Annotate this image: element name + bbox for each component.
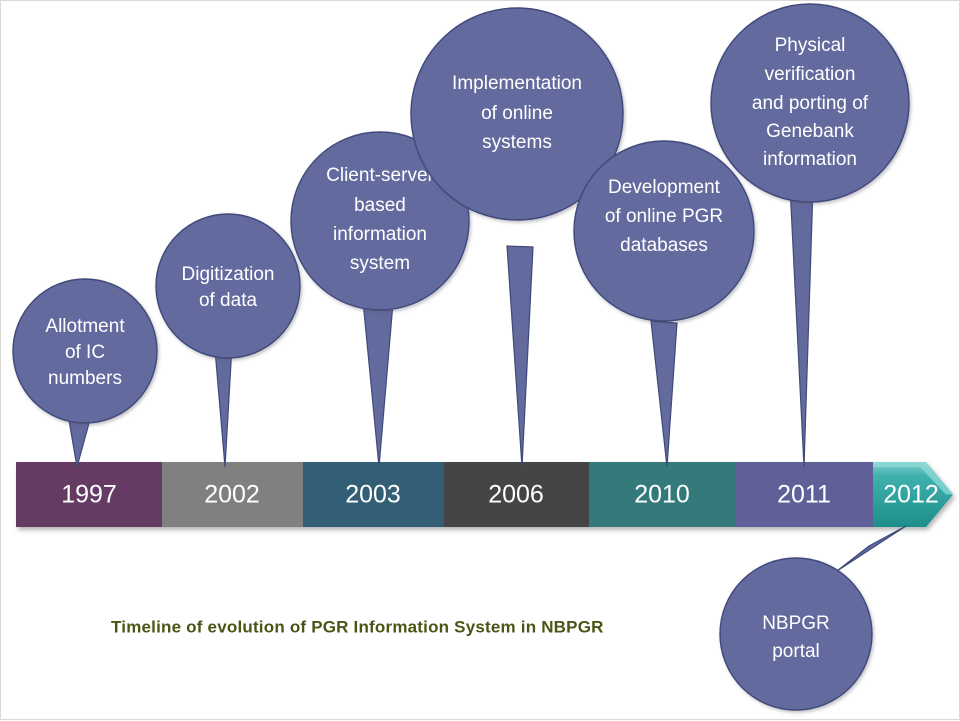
milestone-label-2003-line1: Client-server	[326, 165, 434, 186]
milestone-label-2006-line3: systems	[482, 132, 552, 153]
diagram-caption: Timeline of evolution of PGR Information…	[111, 617, 604, 636]
timeline-diagram: 1997 2002 2003 2006 2010 2011 2012 Allot…	[0, 0, 960, 720]
milestone-label-2012-line1: NBPGR	[762, 613, 830, 634]
milestone-label-2003-line2: based	[354, 195, 406, 216]
tail-2010	[651, 321, 677, 467]
milestone-label-2011-line1: Physical	[775, 35, 846, 56]
milestone-label-2010-line2: of online PGR	[605, 206, 723, 227]
milestone-label-2003-line4: system	[350, 253, 410, 274]
tail-2003	[363, 301, 393, 467]
milestone-label-2011-line4: Genebank	[766, 121, 854, 142]
milestone-label-2011-line2: verification	[765, 64, 856, 85]
milestone-label-2006-line1: Implementation	[452, 73, 582, 94]
year-label-2010: 2010	[634, 481, 690, 509]
milestone-bubble-2010[interactable]	[574, 141, 754, 321]
year-label-2011: 2011	[777, 481, 831, 509]
milestone-label-2010-line1: Development	[608, 177, 721, 198]
milestone-label-2002-line2: of data	[199, 290, 258, 311]
milestone-label-2003-line3: information	[333, 224, 427, 245]
milestone-label-1997-line3: numbers	[48, 368, 122, 389]
year-label-2002: 2002	[204, 481, 260, 509]
milestone-label-2010-line3: databases	[620, 235, 708, 256]
tail-2011	[790, 186, 813, 467]
milestone-label-2011-line3: and porting of	[752, 93, 869, 114]
year-label-2003: 2003	[345, 481, 401, 509]
milestone-label-2011-line5: information	[763, 149, 857, 170]
milestone-label-2006-line2: of online	[481, 103, 553, 124]
milestone-label-2012-line2: portal	[772, 641, 820, 662]
milestone-bubble-2002[interactable]	[156, 214, 300, 358]
milestone-label-1997-line2: of IC	[65, 342, 105, 363]
tail-2006	[507, 246, 533, 467]
milestone-label-1997-line1: Allotment	[45, 316, 125, 337]
year-label-2012: 2012	[883, 481, 939, 509]
year-label-1997: 1997	[61, 481, 117, 509]
tail-2012	[837, 526, 906, 571]
year-label-2006: 2006	[488, 481, 544, 509]
milestone-label-2002-line1: Digitization	[182, 264, 275, 285]
